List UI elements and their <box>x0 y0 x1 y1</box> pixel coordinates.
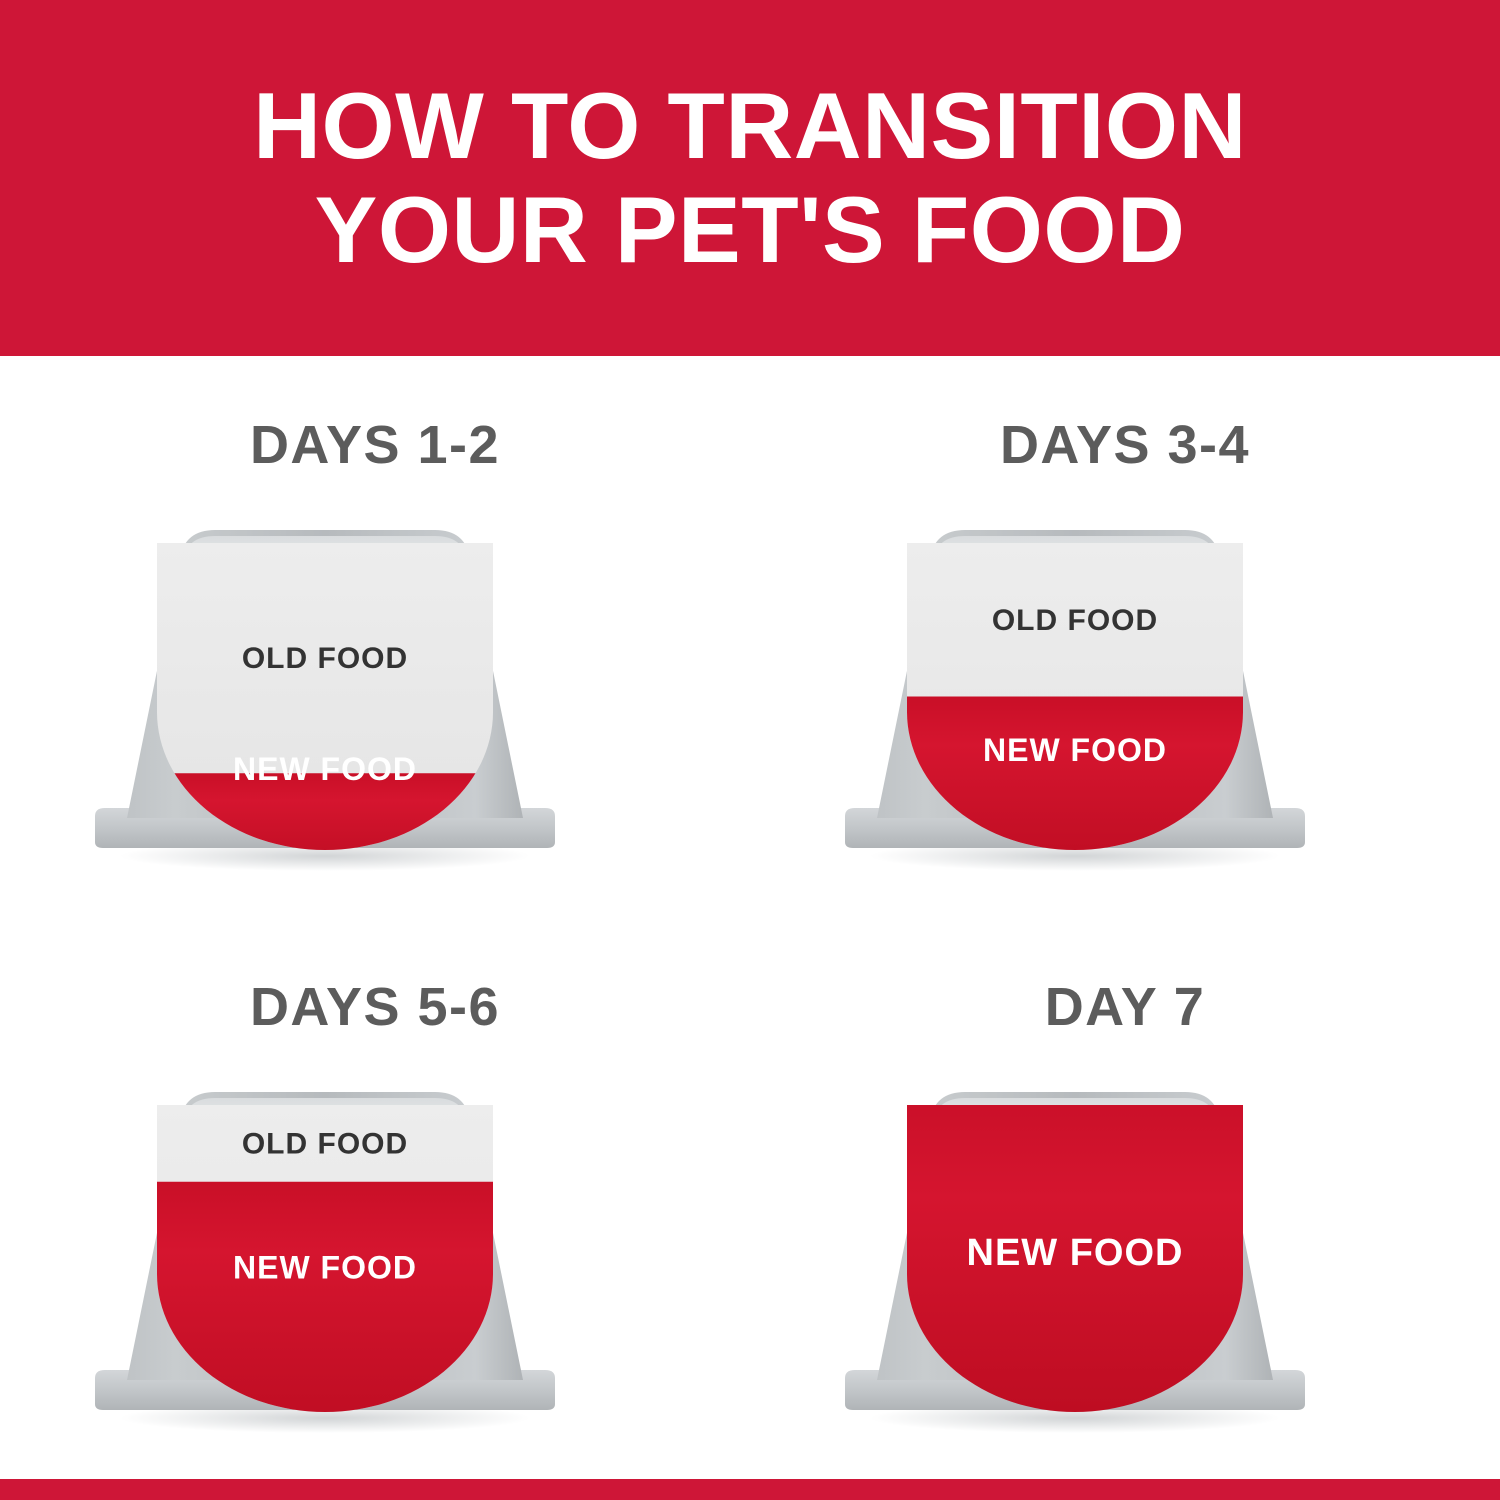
header-banner: HOW TO TRANSITION YOUR PET'S FOOD <box>0 0 1500 356</box>
step-card-days-3-4: DAYS 3-4 <box>750 356 1500 918</box>
food-bowl-days-1-2: OLD FOOD NEW FOOD <box>65 498 685 898</box>
bowl-illustration-days-5-6: OLD FOOD NEW FOOD <box>65 1060 685 1460</box>
bowl-illustration-days-1-2: OLD FOOD NEW FOOD <box>65 498 685 898</box>
old-food-label: OLD FOOD <box>242 1127 408 1160</box>
food-bowl-day-7: NEW FOOD <box>815 1060 1435 1460</box>
new-food-label: NEW FOOD <box>233 751 417 787</box>
step-label-day-7: DAY 7 <box>1045 976 1206 1038</box>
page-title-line-1: HOW TO TRANSITION <box>253 76 1247 176</box>
food-bowl-days-5-6: OLD FOOD NEW FOOD <box>65 1060 685 1460</box>
new-food-label: NEW FOOD <box>233 1249 417 1285</box>
new-food-label: NEW FOOD <box>967 1232 1184 1274</box>
step-label-days-1-2: DAYS 1-2 <box>250 414 500 476</box>
step-label-days-5-6: DAYS 5-6 <box>250 976 500 1038</box>
bowl-illustration-days-3-4: OLD FOOD NEW FOOD <box>815 498 1435 898</box>
food-bowl-days-3-4: OLD FOOD NEW FOOD <box>815 498 1435 898</box>
old-food-label: OLD FOOD <box>992 604 1158 637</box>
step-label-days-3-4: DAYS 3-4 <box>1000 414 1250 476</box>
page-title-line-2: YOUR PET'S FOOD <box>315 180 1186 280</box>
old-food-label: OLD FOOD <box>242 642 408 675</box>
footer-accent-bar <box>0 1479 1500 1500</box>
step-card-days-5-6: DAYS 5-6 <box>0 918 750 1480</box>
transition-steps-grid: DAYS 1-2 <box>0 356 1500 1479</box>
bowl-illustration-day-7: NEW FOOD <box>815 1060 1435 1460</box>
step-card-day-7: DAY 7 <box>750 918 1500 1480</box>
step-card-days-1-2: DAYS 1-2 <box>0 356 750 918</box>
new-food-label: NEW FOOD <box>983 732 1167 768</box>
